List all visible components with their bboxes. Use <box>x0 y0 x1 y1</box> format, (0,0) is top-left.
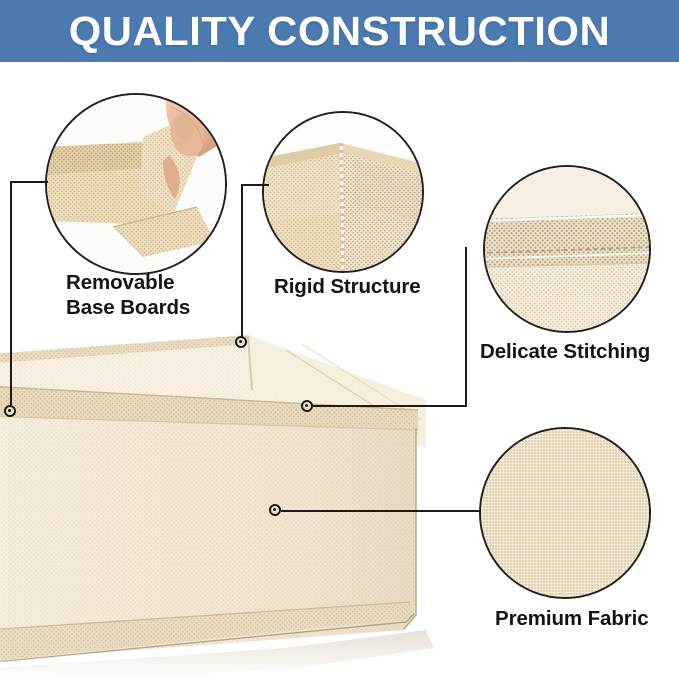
anchor-dot-delicate-stitching <box>301 400 313 412</box>
storage-bin-illustration <box>0 330 436 679</box>
leader-line-rigid-structure-vertical <box>241 184 243 342</box>
callout-circle-removable-base-boards <box>45 93 227 275</box>
rigid-structure-photo <box>264 113 422 271</box>
anchor-dot-rigid-structure <box>235 336 247 348</box>
stitching-lower-panel <box>485 263 649 331</box>
infographic-canvas: QUALITY CONSTRUCTION <box>0 0 679 679</box>
page-title: QUALITY CONSTRUCTION <box>69 8 610 55</box>
callout-label-rigid-structure: Rigid Structure <box>274 274 421 299</box>
callout-label-delicate-stitching: Delicate Stitching <box>480 339 650 364</box>
leader-line-delicate-stitching-vertical <box>465 247 467 406</box>
anchor-dot-premium-fabric <box>269 504 281 516</box>
leader-line-delicate-stitching-horizontal <box>313 405 467 407</box>
callout-label-removable-base-boards: Removable Base Boards <box>66 270 190 320</box>
leader-line-premium-fabric-horizontal <box>281 510 481 512</box>
premium-fabric-texture <box>481 429 649 597</box>
anchor-dot-removable-base-boards <box>4 405 16 417</box>
removable-base-boards-photo <box>47 95 225 273</box>
stitching-upper-panel <box>485 167 649 219</box>
header-banner: QUALITY CONSTRUCTION <box>0 0 679 62</box>
callout-circle-delicate-stitching <box>483 165 651 333</box>
callout-circle-premium-fabric <box>479 427 651 599</box>
delicate-stitching-photo <box>485 167 649 331</box>
leader-line-rigid-structure-horizontal <box>241 184 269 186</box>
product-image-storage-bin <box>0 330 436 679</box>
callout-circle-rigid-structure <box>262 111 424 273</box>
callout-label-premium-fabric: Premium Fabric <box>495 606 649 631</box>
leader-line-removable-base-boards-horizontal <box>10 181 48 183</box>
leader-line-removable-base-boards-vertical <box>10 181 12 411</box>
